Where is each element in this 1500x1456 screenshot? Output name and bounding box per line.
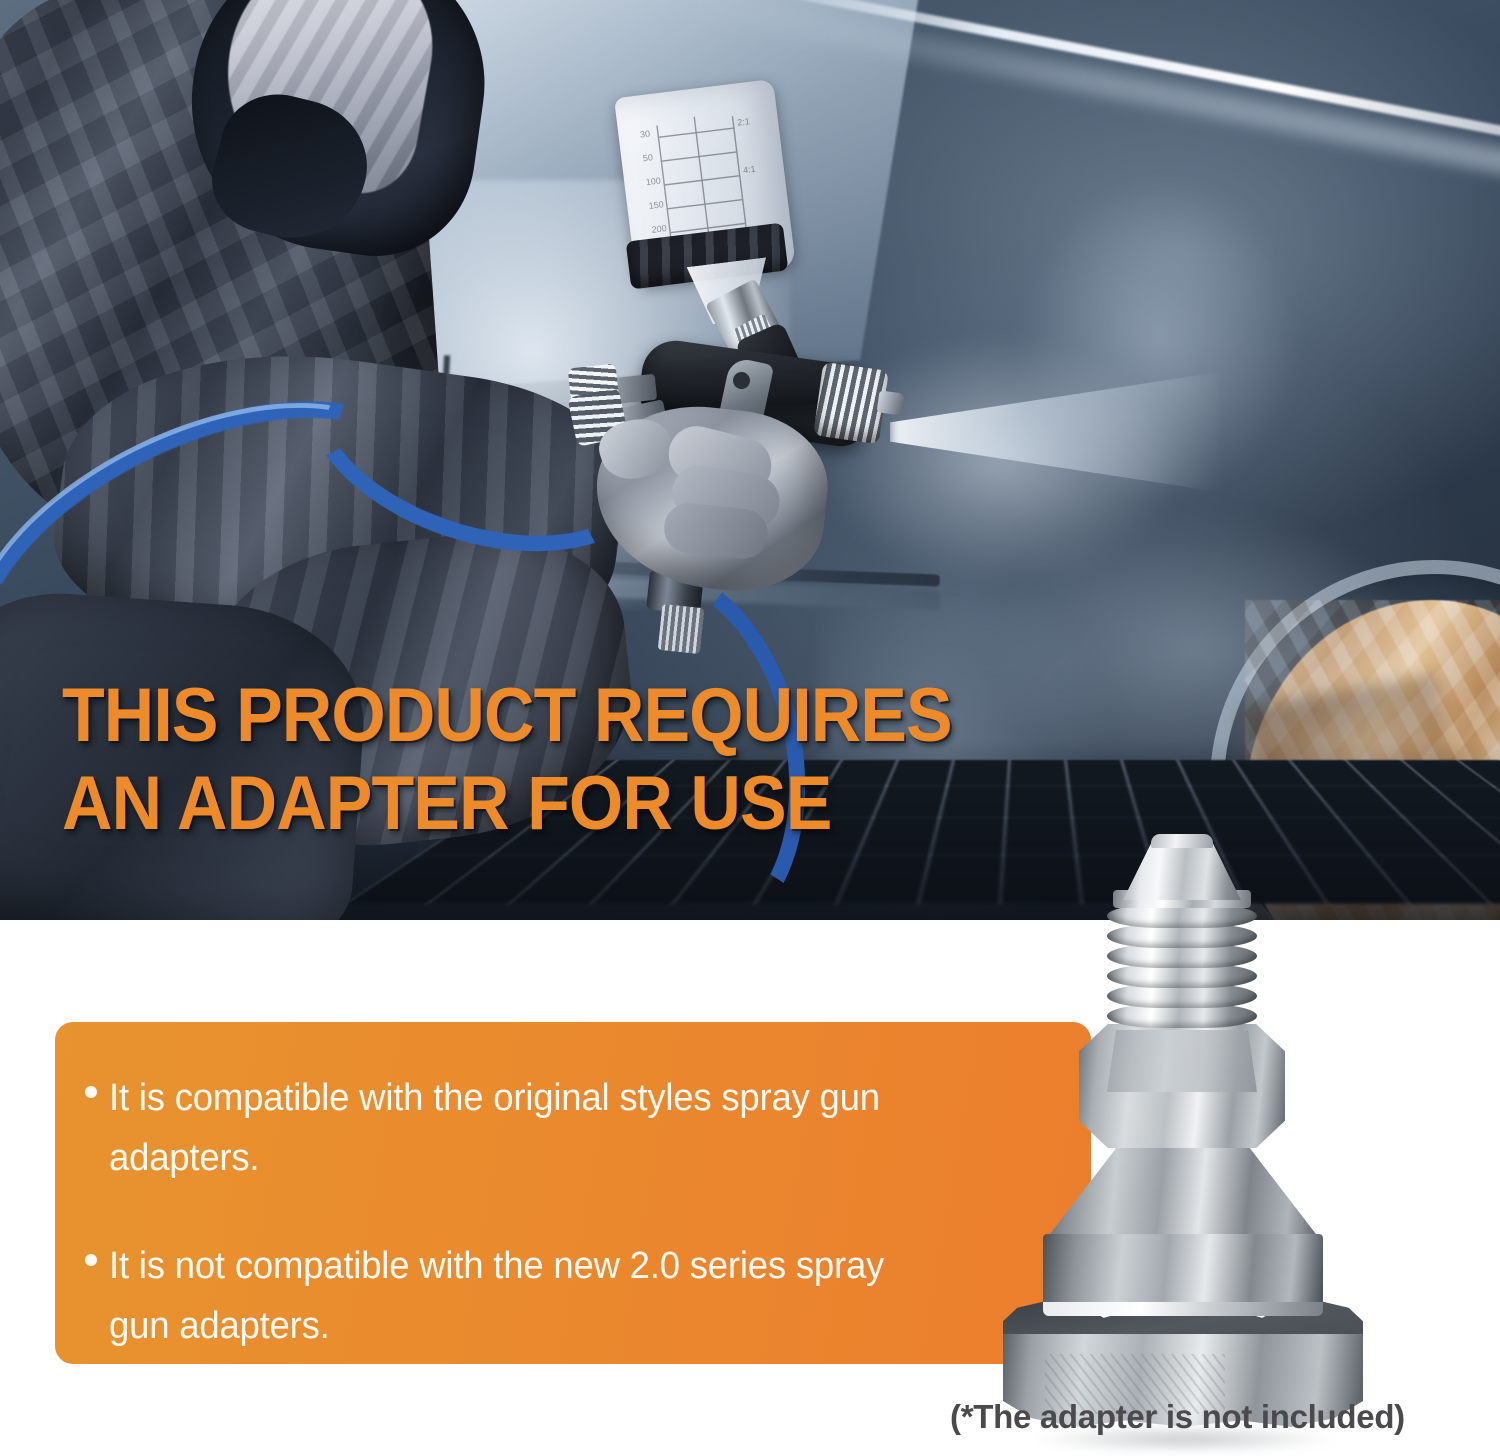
list-item: It is not compatible with the new 2.0 se…: [85, 1236, 1051, 1356]
product-infographic-page: 3050 100150 200 2:14:1 THIS PRODUCT REQU…: [0, 0, 1500, 1456]
bullet-dot-icon: [85, 1254, 97, 1266]
svg-text:150: 150: [648, 199, 664, 211]
adapter-collar: [1043, 1234, 1323, 1310]
compatibility-panel: It is compatible with the original style…: [55, 1022, 1091, 1364]
svg-text:200: 200: [651, 223, 667, 235]
adapter-product-image: [995, 834, 1395, 1404]
bullet-text-2: It is not compatible with the new 2.0 se…: [109, 1236, 954, 1356]
svg-text:100: 100: [645, 175, 661, 187]
bullet-text-1: It is compatible with the original style…: [109, 1068, 954, 1188]
svg-text:30: 30: [639, 128, 650, 139]
bullet-dot-icon: [85, 1086, 97, 1098]
adapter-collar-edge: [1043, 1302, 1323, 1316]
spray-gun-nozzle: [877, 390, 906, 415]
list-item: It is compatible with the original style…: [85, 1068, 1051, 1188]
headline-line-1: THIS PRODUCT REQUIRES: [62, 672, 1092, 760]
bullet-list: It is compatible with the original style…: [55, 1022, 1091, 1364]
disclaimer-caption: (*The adapter is not included): [950, 1398, 1405, 1436]
svg-text:2:1: 2:1: [737, 116, 751, 127]
hose-fitting-knurl: [658, 604, 705, 654]
svg-text:4:1: 4:1: [742, 164, 756, 175]
adapter-hex-front-face: [1107, 1030, 1257, 1092]
svg-text:50: 50: [642, 152, 653, 163]
headline: THIS PRODUCT REQUIRES AN ADAPTER FOR USE: [62, 672, 1182, 848]
headline-line-2: AN ADAPTER FOR USE: [62, 760, 1092, 848]
